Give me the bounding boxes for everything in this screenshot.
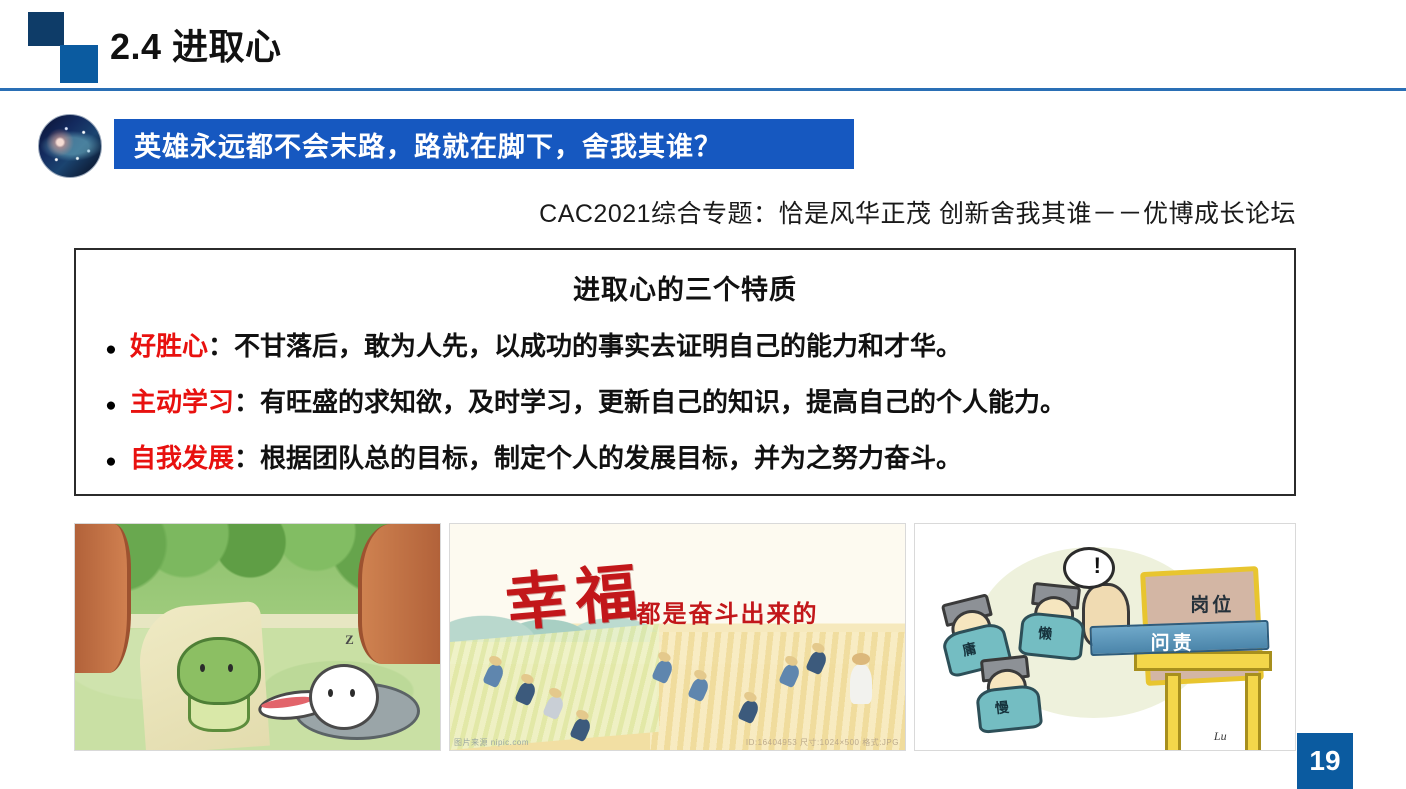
tree-trunk-right xyxy=(358,524,440,664)
trait-separator: ： xyxy=(208,326,234,363)
slide-header: 2.4 进取心 xyxy=(0,0,1406,90)
chair-leg xyxy=(1245,673,1261,751)
accountability-cartoon-image: 岗位 问责 庸 懒 慢 ! Lu xyxy=(914,523,1296,751)
trait-separator: ： xyxy=(234,382,260,419)
tortoise-and-hare-image: Z xyxy=(74,523,441,751)
header-decoration xyxy=(28,12,112,84)
turtle-eye-left xyxy=(200,664,205,672)
trait-term: 自我发展 xyxy=(130,438,234,475)
trait-description: 根据团队总的目标，制定个人的发展目标，并为之努力奋斗。 xyxy=(260,438,962,475)
rice-paddy xyxy=(450,623,659,750)
galaxy-icon xyxy=(38,114,102,178)
officer-figure: 懒 xyxy=(1019,593,1087,657)
artist-signature: Lu xyxy=(1214,729,1227,744)
image-credit-right: ID:16404953 尺寸:1024×500 格式:JPG xyxy=(746,737,899,748)
trait-row: ● 自我发展 ： 根据团队总的目标，制定个人的发展目标，并为之努力奋斗。 xyxy=(76,438,1294,475)
tree-trunk-left xyxy=(75,524,131,673)
poster-title-sub: 都是奋斗出来的 xyxy=(637,594,819,629)
page-number-badge: 19 xyxy=(1297,733,1353,789)
trait-row: ● 好胜心 ： 不甘落后，敢为人先，以成功的事实去证明自己的能力和才华。 xyxy=(76,326,1294,363)
chair-leg xyxy=(1165,673,1181,751)
traits-box: 进取心的三个特质 ● 好胜心 ： 不甘落后，敢为人先，以成功的事实去证明自己的能… xyxy=(74,248,1296,496)
officer-label: 懒 xyxy=(1037,623,1053,644)
hare-eye-left xyxy=(328,689,333,697)
sleep-zzz-icon: Z xyxy=(345,632,354,648)
chair-label-position: 岗位 xyxy=(1190,590,1234,617)
forum-subtitle: CAC2021综合专题：恰是风华正茂 创新舍我其谁－－优博成长论坛 xyxy=(0,194,1296,230)
poster-title-main: 幸福 xyxy=(501,541,648,643)
officer-label: 慢 xyxy=(994,697,1010,718)
trait-separator: ： xyxy=(234,438,260,475)
quote-banner: 英雄永远都不会末路，路就在脚下，舍我其谁？ xyxy=(114,119,854,169)
hare-head xyxy=(309,664,379,730)
header-square-dark-icon xyxy=(28,12,64,46)
turtle-shell xyxy=(177,637,261,705)
trait-term: 主动学习 xyxy=(130,382,234,419)
trait-description: 不甘落后，敢为人先，以成功的事实去证明自己的能力和才华。 xyxy=(234,326,962,363)
page-title: 2.4 进取心 xyxy=(110,18,282,70)
farmer-figure-foreground xyxy=(850,664,872,704)
bullet-icon: ● xyxy=(92,452,130,471)
officer-figure: 慢 xyxy=(973,666,1041,730)
officer-body xyxy=(1018,611,1086,661)
arm-label-accountability: 问责 xyxy=(1151,628,1195,655)
header-square-blue-icon xyxy=(60,45,98,83)
traits-heading: 进取心的三个特质 xyxy=(76,268,1294,307)
trait-term: 好胜心 xyxy=(130,326,208,363)
quote-banner-text: 英雄永远都不会末路，路就在脚下，舍我其谁？ xyxy=(134,125,722,164)
hare-eye-right xyxy=(350,689,355,697)
bullet-icon: ● xyxy=(92,340,130,359)
image-credit-left: 图片来源 nipic.com xyxy=(454,737,529,748)
bullet-icon: ● xyxy=(92,396,130,415)
turtle-eye-right xyxy=(228,664,233,672)
header-divider xyxy=(0,88,1406,91)
happiness-poster-image: 幸福 都是奋斗出来的 图片来源 nipic.com ID:16404953 尺寸… xyxy=(449,523,906,751)
trait-row: ● 主动学习 ： 有旺盛的求知欲，及时学习，更新自己的知识，提高自己的个人能力。 xyxy=(76,382,1294,419)
exclamation-icon: ! xyxy=(1094,553,1101,579)
speech-bubble xyxy=(1063,547,1115,589)
trait-description: 有旺盛的求知欲，及时学习，更新自己的知识，提高自己的个人能力。 xyxy=(260,382,1066,419)
